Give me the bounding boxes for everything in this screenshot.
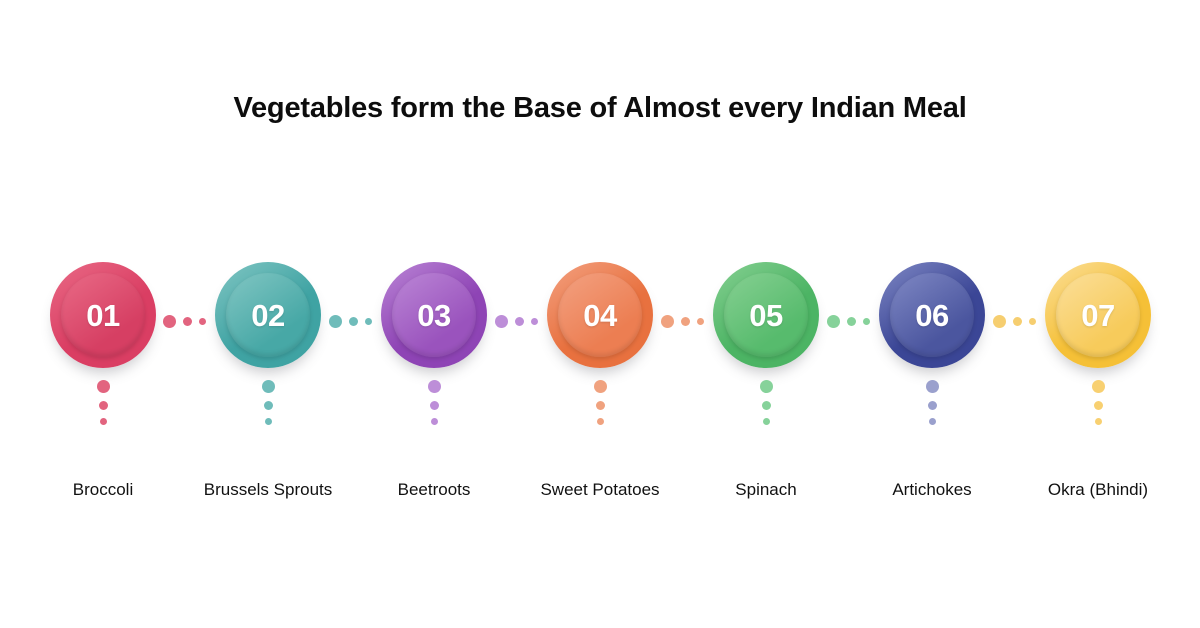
trailing-dot-icon <box>926 380 939 393</box>
step-trailing-dots <box>427 380 441 425</box>
step-circle[interactable]: 02 <box>185 262 351 384</box>
step-number: 02 <box>251 300 284 331</box>
trailing-dot-icon <box>928 401 937 410</box>
timeline-step[interactable]: 05Spinach <box>683 262 849 384</box>
step-inner-disc: 06 <box>890 273 974 357</box>
trailing-dot-icon <box>97 380 110 393</box>
step-circle[interactable]: 04 <box>517 262 683 384</box>
trailing-dot-icon <box>1095 418 1102 425</box>
infographic-root: Vegetables form the Base of Almost every… <box>0 0 1200 628</box>
trailing-dot-icon <box>763 418 770 425</box>
trailing-dot-icon <box>594 380 607 393</box>
step-inner-disc: 02 <box>226 273 310 357</box>
trailing-dot-icon <box>99 401 108 410</box>
step-circle[interactable]: 06 <box>849 262 1015 384</box>
step-trailing-dots <box>925 380 939 425</box>
trailing-dot-icon <box>929 418 936 425</box>
timeline: 01Broccoli02Brussels Sprouts03Beetroots0… <box>0 0 1200 628</box>
trailing-dot-icon <box>760 380 773 393</box>
step-label: Okra (Bhindi) <box>1015 477 1181 502</box>
step-number: 06 <box>915 300 948 331</box>
step-circle[interactable]: 03 <box>351 262 517 384</box>
step-inner-disc: 01 <box>61 273 145 357</box>
step-circle[interactable]: 05 <box>683 262 849 384</box>
timeline-step[interactable]: 07Okra (Bhindi) <box>1015 262 1181 384</box>
timeline-step[interactable]: 06Artichokes <box>849 262 1015 384</box>
step-number: 07 <box>1081 300 1114 331</box>
timeline-step[interactable]: 01Broccoli <box>20 262 186 384</box>
timeline-step[interactable]: 03Beetroots <box>351 262 517 384</box>
step-number: 04 <box>583 300 616 331</box>
step-label: Beetroots <box>351 477 517 502</box>
step-label: Sweet Potatoes <box>517 477 683 502</box>
step-trailing-dots <box>593 380 607 425</box>
step-label: Broccoli <box>20 477 186 502</box>
trailing-dot-icon <box>431 418 438 425</box>
step-circle[interactable]: 01 <box>20 262 186 384</box>
trailing-dot-icon <box>262 380 275 393</box>
step-label: Spinach <box>683 477 849 502</box>
trailing-dot-icon <box>428 380 441 393</box>
trailing-dot-icon <box>762 401 771 410</box>
trailing-dot-icon <box>1092 380 1105 393</box>
timeline-step[interactable]: 02Brussels Sprouts <box>185 262 351 384</box>
step-number: 05 <box>749 300 782 331</box>
trailing-dot-icon <box>430 401 439 410</box>
step-number: 01 <box>86 300 119 331</box>
step-circle[interactable]: 07 <box>1015 262 1181 384</box>
step-trailing-dots <box>96 380 110 425</box>
step-inner-disc: 07 <box>1056 273 1140 357</box>
trailing-dot-icon <box>264 401 273 410</box>
step-trailing-dots <box>261 380 275 425</box>
trailing-dot-icon <box>596 401 605 410</box>
trailing-dot-icon <box>597 418 604 425</box>
step-number: 03 <box>417 300 450 331</box>
trailing-dot-icon <box>1094 401 1103 410</box>
trailing-dot-icon <box>100 418 107 425</box>
trailing-dot-icon <box>265 418 272 425</box>
step-trailing-dots <box>759 380 773 425</box>
step-inner-disc: 04 <box>558 273 642 357</box>
step-inner-disc: 05 <box>724 273 808 357</box>
step-trailing-dots <box>1091 380 1105 425</box>
step-label: Artichokes <box>849 477 1015 502</box>
step-inner-disc: 03 <box>392 273 476 357</box>
step-label: Brussels Sprouts <box>185 477 351 502</box>
timeline-step[interactable]: 04Sweet Potatoes <box>517 262 683 384</box>
